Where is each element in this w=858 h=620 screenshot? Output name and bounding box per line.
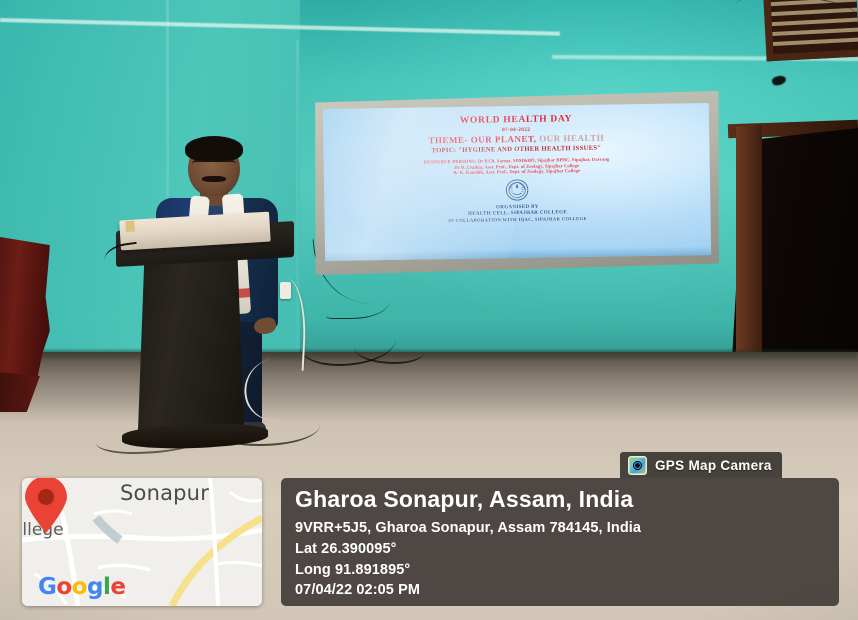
slide-theme-dim: OUR HEALTH	[536, 132, 604, 143]
location-title: Gharoa Sonapur, Assam, India	[295, 486, 839, 512]
speaker-glasses	[192, 160, 236, 171]
projector-screen: WORLD HEALTH DAY 07-04-2022 THEME- OUR P…	[313, 91, 722, 275]
google-logo: Google	[38, 574, 125, 600]
location-latitude: Lat 26.390095°	[295, 539, 839, 560]
extension-cord-plug	[280, 282, 291, 299]
location-address: 9VRR+5J5, Gharoa Sonapur, Assam 784145, …	[295, 518, 839, 539]
slide-theme-strong: THEME- OUR PLANET,	[428, 134, 536, 146]
slide-emblem-wrap	[324, 174, 710, 206]
location-info-panel: Gharoa Sonapur, Assam, India 9VRR+5J5, G…	[281, 478, 839, 606]
photo-canvas: WORLD HEALTH DAY 07-04-2022 THEME- OUR P…	[0, 0, 858, 620]
podium-column	[138, 258, 244, 430]
slide-resource-persons: RESOURCE PERSONS: Dr P.Ch. Sarma, SDM&HO…	[324, 155, 710, 177]
speaker-moustache	[202, 176, 226, 182]
map-pin-icon	[22, 478, 70, 534]
google-letter: G	[38, 574, 56, 600]
projected-slide: WORLD HEALTH DAY 07-04-2022 THEME- OUR P…	[323, 103, 711, 261]
slide-content: WORLD HEALTH DAY 07-04-2022 THEME- OUR P…	[323, 103, 711, 261]
map-thumbnail[interactable]: Sonapur ollege Google	[22, 478, 262, 606]
google-letter: o	[72, 574, 87, 600]
google-letter: o	[56, 574, 71, 600]
location-longitude: Long 91.891895°	[295, 560, 839, 581]
gps-map-camera-label: GPS Map Camera	[655, 458, 772, 473]
google-letter: e	[110, 574, 125, 600]
gps-map-camera-badge: GPS Map Camera	[620, 452, 782, 478]
college-emblem-icon	[504, 178, 530, 202]
map-label-place: Sonapur	[120, 481, 209, 505]
google-letter: g	[87, 574, 103, 600]
gps-camera-icon	[628, 456, 647, 475]
capture-timestamp: 07/04/22 02:05 PM	[295, 580, 839, 601]
slide-organiser-block: ORGANISED BY HEALTH CELL, SIPAJHAR COLLE…	[324, 202, 710, 225]
speaker-hair	[185, 136, 243, 162]
